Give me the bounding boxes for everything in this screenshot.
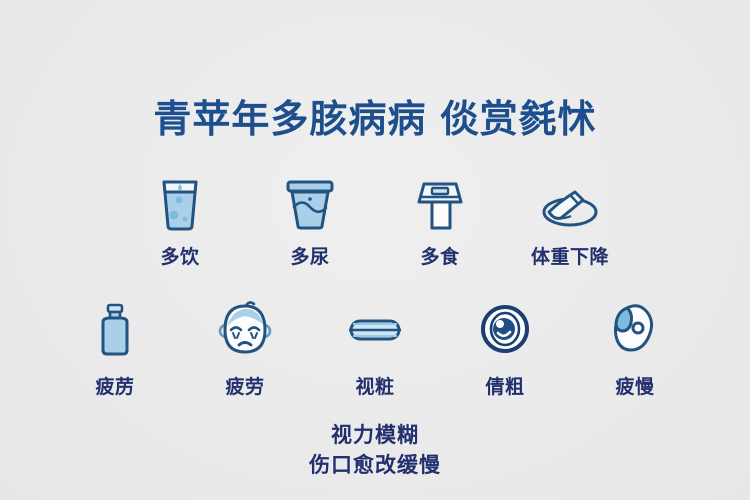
toaster-icon	[412, 172, 468, 234]
water-glass-icon	[154, 172, 206, 234]
symptom-item: 疲苈	[50, 298, 180, 399]
symptom-item: 疲劳	[180, 298, 310, 399]
symptom-row-1: 多饮 多尿 多食	[0, 172, 750, 269]
page-title: 青苹年多胲病病 倓赏毵怵	[0, 88, 750, 143]
medicine-bottle-icon	[94, 298, 136, 360]
symptom-item: 视粧	[310, 298, 440, 399]
symptom-label: 体重下降	[531, 242, 609, 269]
symptom-label: 倩粗	[485, 372, 524, 399]
footer-notes: 视力模糊 伤口愈改缓慢	[0, 420, 750, 480]
footer-line: 伤口愈改缓慢	[0, 450, 750, 480]
symptom-item: 倩粗	[440, 298, 570, 399]
symptom-label: 多尿	[290, 242, 329, 269]
symptom-item: 体重下降	[505, 172, 635, 269]
symptom-row-2: 疲苈 疲劳	[0, 298, 750, 399]
symptom-item: 疲慢	[570, 298, 700, 399]
bucket-icon	[280, 172, 340, 234]
symptom-item: 多食	[375, 172, 505, 269]
eye-icon	[477, 298, 533, 360]
symptom-label: 疲苈	[95, 372, 134, 399]
symptom-label: 多饮	[160, 242, 199, 269]
symptom-label: 视粧	[355, 372, 394, 399]
symptom-label: 多食	[420, 242, 459, 269]
bandage-icon	[605, 298, 665, 360]
symptom-item: 多饮	[115, 172, 245, 269]
footer-line: 视力模糊	[0, 420, 750, 450]
infographic-poster: 青苹年多胲病病 倓赏毵怵 多饮	[0, 0, 750, 500]
weight-scale-icon	[535, 172, 605, 234]
symptom-label: 疲劳	[225, 372, 264, 399]
tired-face-icon	[213, 298, 277, 360]
symptom-label: 疲慢	[615, 372, 654, 399]
symptom-item: 多尿	[245, 172, 375, 269]
lens-icon	[343, 298, 407, 360]
